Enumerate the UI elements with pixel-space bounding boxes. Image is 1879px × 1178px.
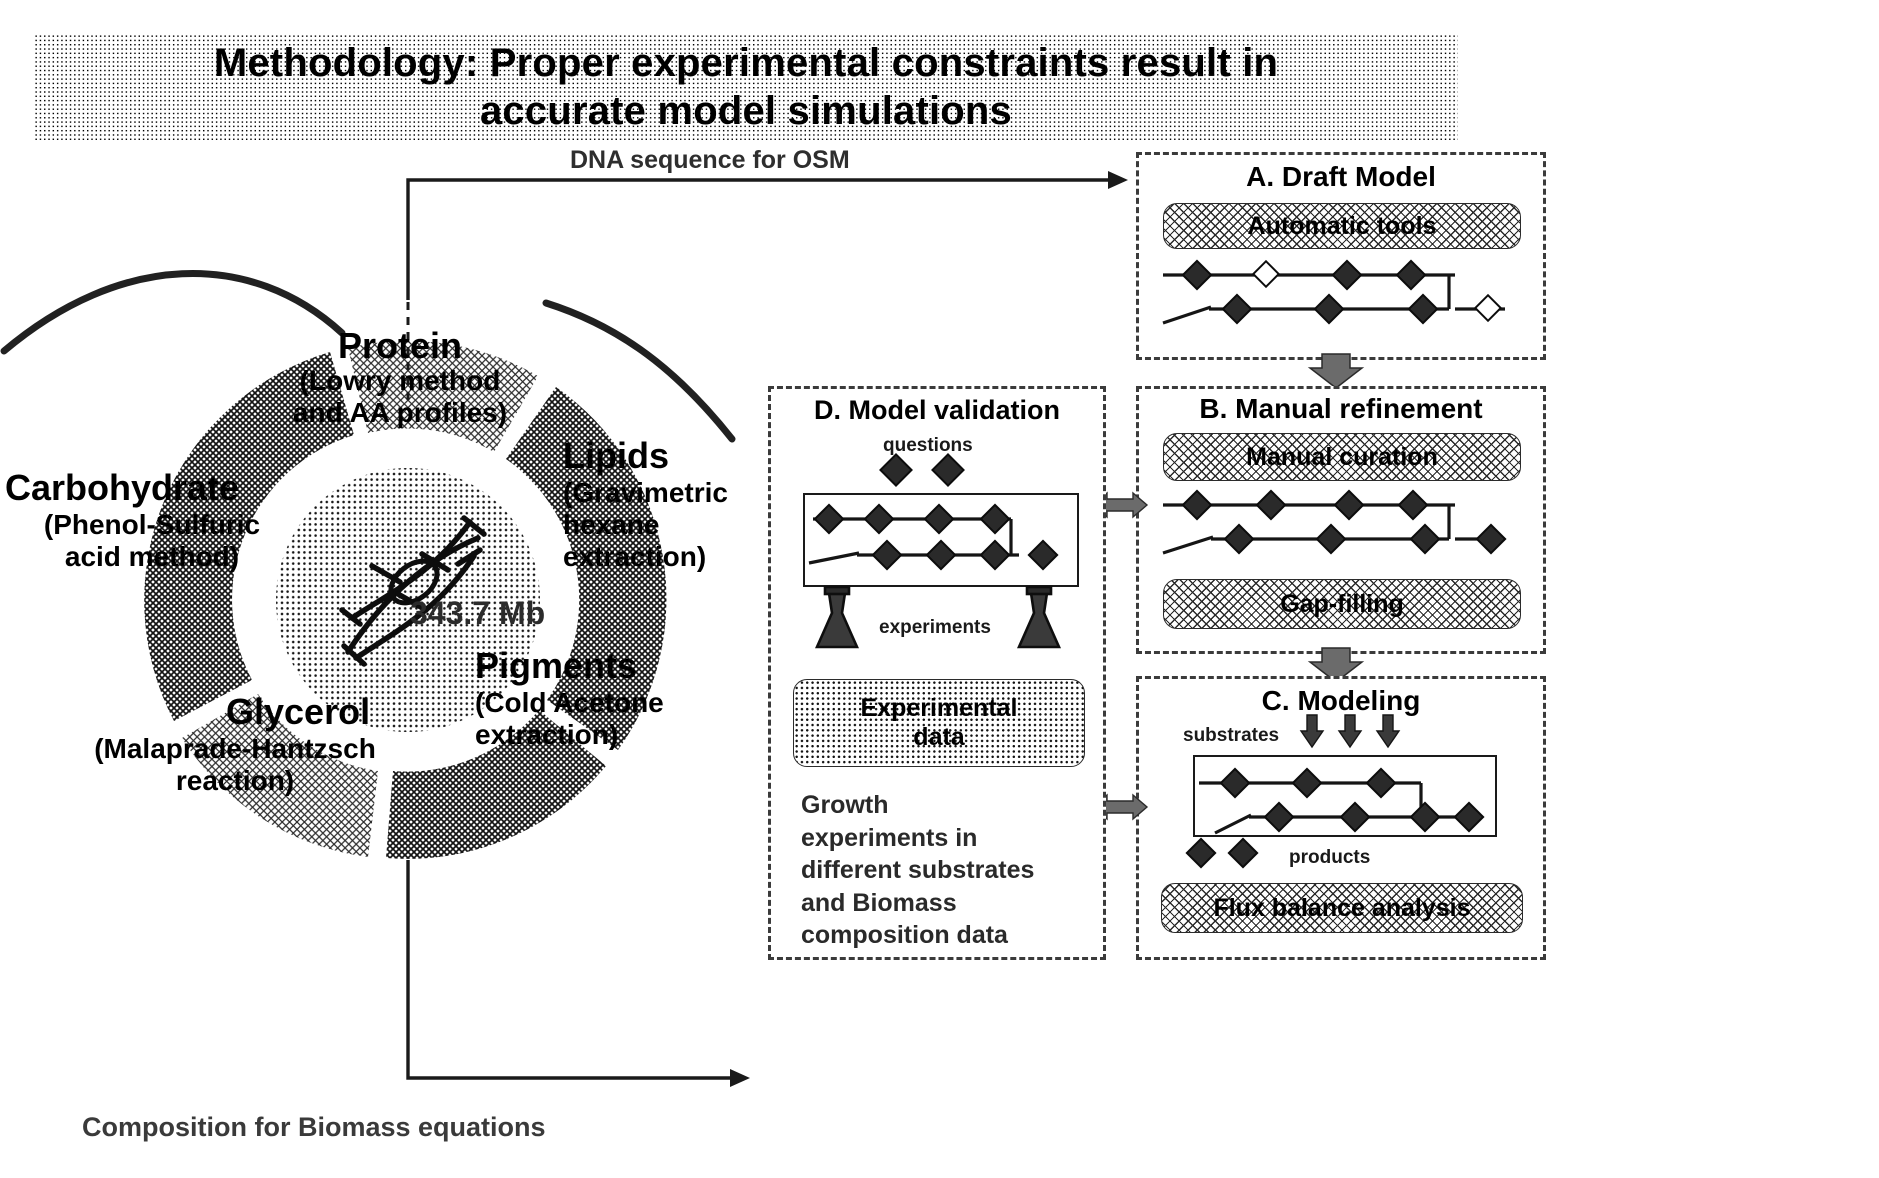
product-nodes-icon bbox=[1183, 837, 1293, 871]
wheel-method-lipids: (Gravimetric hexane extraction) bbox=[563, 477, 728, 573]
experimental-data-pill[interactable]: Experimental data bbox=[793, 679, 1085, 767]
substrates-label: substrates bbox=[1183, 725, 1279, 747]
biomass-composition-wheel: Protein (Lowry method and AA profiles) L… bbox=[60, 255, 800, 935]
panel-d-title: D. Model validation bbox=[771, 395, 1103, 426]
wheel-label-lipids: Lipids bbox=[563, 435, 669, 476]
products-label: products bbox=[1289, 847, 1370, 869]
biomass-composition-connector-label: Composition for Biomass equations bbox=[82, 1112, 546, 1143]
genome-size-value: 343.7 Mb bbox=[410, 595, 545, 631]
flask-left-icon bbox=[817, 587, 857, 647]
panel-c-modeling: C. Modeling substrates bbox=[1136, 676, 1546, 960]
wheel-method-pigments: (Cold Acetone extraction) bbox=[475, 687, 664, 751]
page-title-line2: accurate model simulations bbox=[480, 87, 1012, 135]
manual-curation-pill[interactable]: Manual curation bbox=[1163, 433, 1521, 481]
panel-b-manual-refinement: B. Manual refinement Manual curation Gap… bbox=[1136, 386, 1546, 654]
panel-a-title: A. Draft Model bbox=[1139, 161, 1543, 193]
title-banner: Methodology: Proper experimental constra… bbox=[34, 34, 1458, 140]
panel-b-title: B. Manual refinement bbox=[1139, 393, 1543, 425]
questions-nodes-icon bbox=[879, 455, 989, 487]
wheel-method-protein: (Lowry method and AA profiles) bbox=[240, 365, 560, 429]
wheel-label-protein: Protein bbox=[260, 325, 540, 366]
dna-sequence-connector-label: DNA sequence for OSM bbox=[570, 146, 850, 175]
wheel-label-carbohydrate: Carbohydrate bbox=[5, 467, 239, 508]
gap-filling-pill[interactable]: Gap-filling bbox=[1163, 579, 1521, 629]
panel-d-body-text: Growth experiments in different substrat… bbox=[801, 789, 1034, 952]
panel-d-model-validation: D. Model validation questions bbox=[768, 386, 1106, 960]
experimental-data-line2: data bbox=[913, 723, 964, 753]
flux-balance-analysis-pill[interactable]: Flux balance analysis bbox=[1161, 883, 1523, 933]
wheel-label-pigments: Pigments bbox=[475, 645, 637, 686]
panel-d-network-graphic bbox=[789, 487, 1089, 597]
wheel-method-glycerol: (Malaprade-Hantzsch reaction) bbox=[25, 733, 445, 797]
panel-c-title: C. Modeling bbox=[1139, 685, 1543, 717]
panel-b-network-graphic bbox=[1149, 483, 1539, 575]
panel-a-network-graphic bbox=[1149, 251, 1539, 351]
experiments-label: experiments bbox=[879, 617, 991, 639]
page-title-line1: Methodology: Proper experimental constra… bbox=[214, 39, 1278, 87]
flask-right-icon bbox=[1019, 587, 1059, 647]
wheel-method-carbohydrate: (Phenol-Sulfuric acid method) bbox=[2, 509, 302, 573]
substrate-arrows-icon bbox=[1297, 715, 1427, 751]
automatic-tools-pill[interactable]: Automatic tools bbox=[1163, 203, 1521, 249]
panel-a-draft-model: A. Draft Model Automatic tools bbox=[1136, 152, 1546, 360]
experimental-data-line1: Experimental bbox=[860, 694, 1017, 724]
wheel-label-glycerol: Glycerol bbox=[226, 691, 370, 732]
